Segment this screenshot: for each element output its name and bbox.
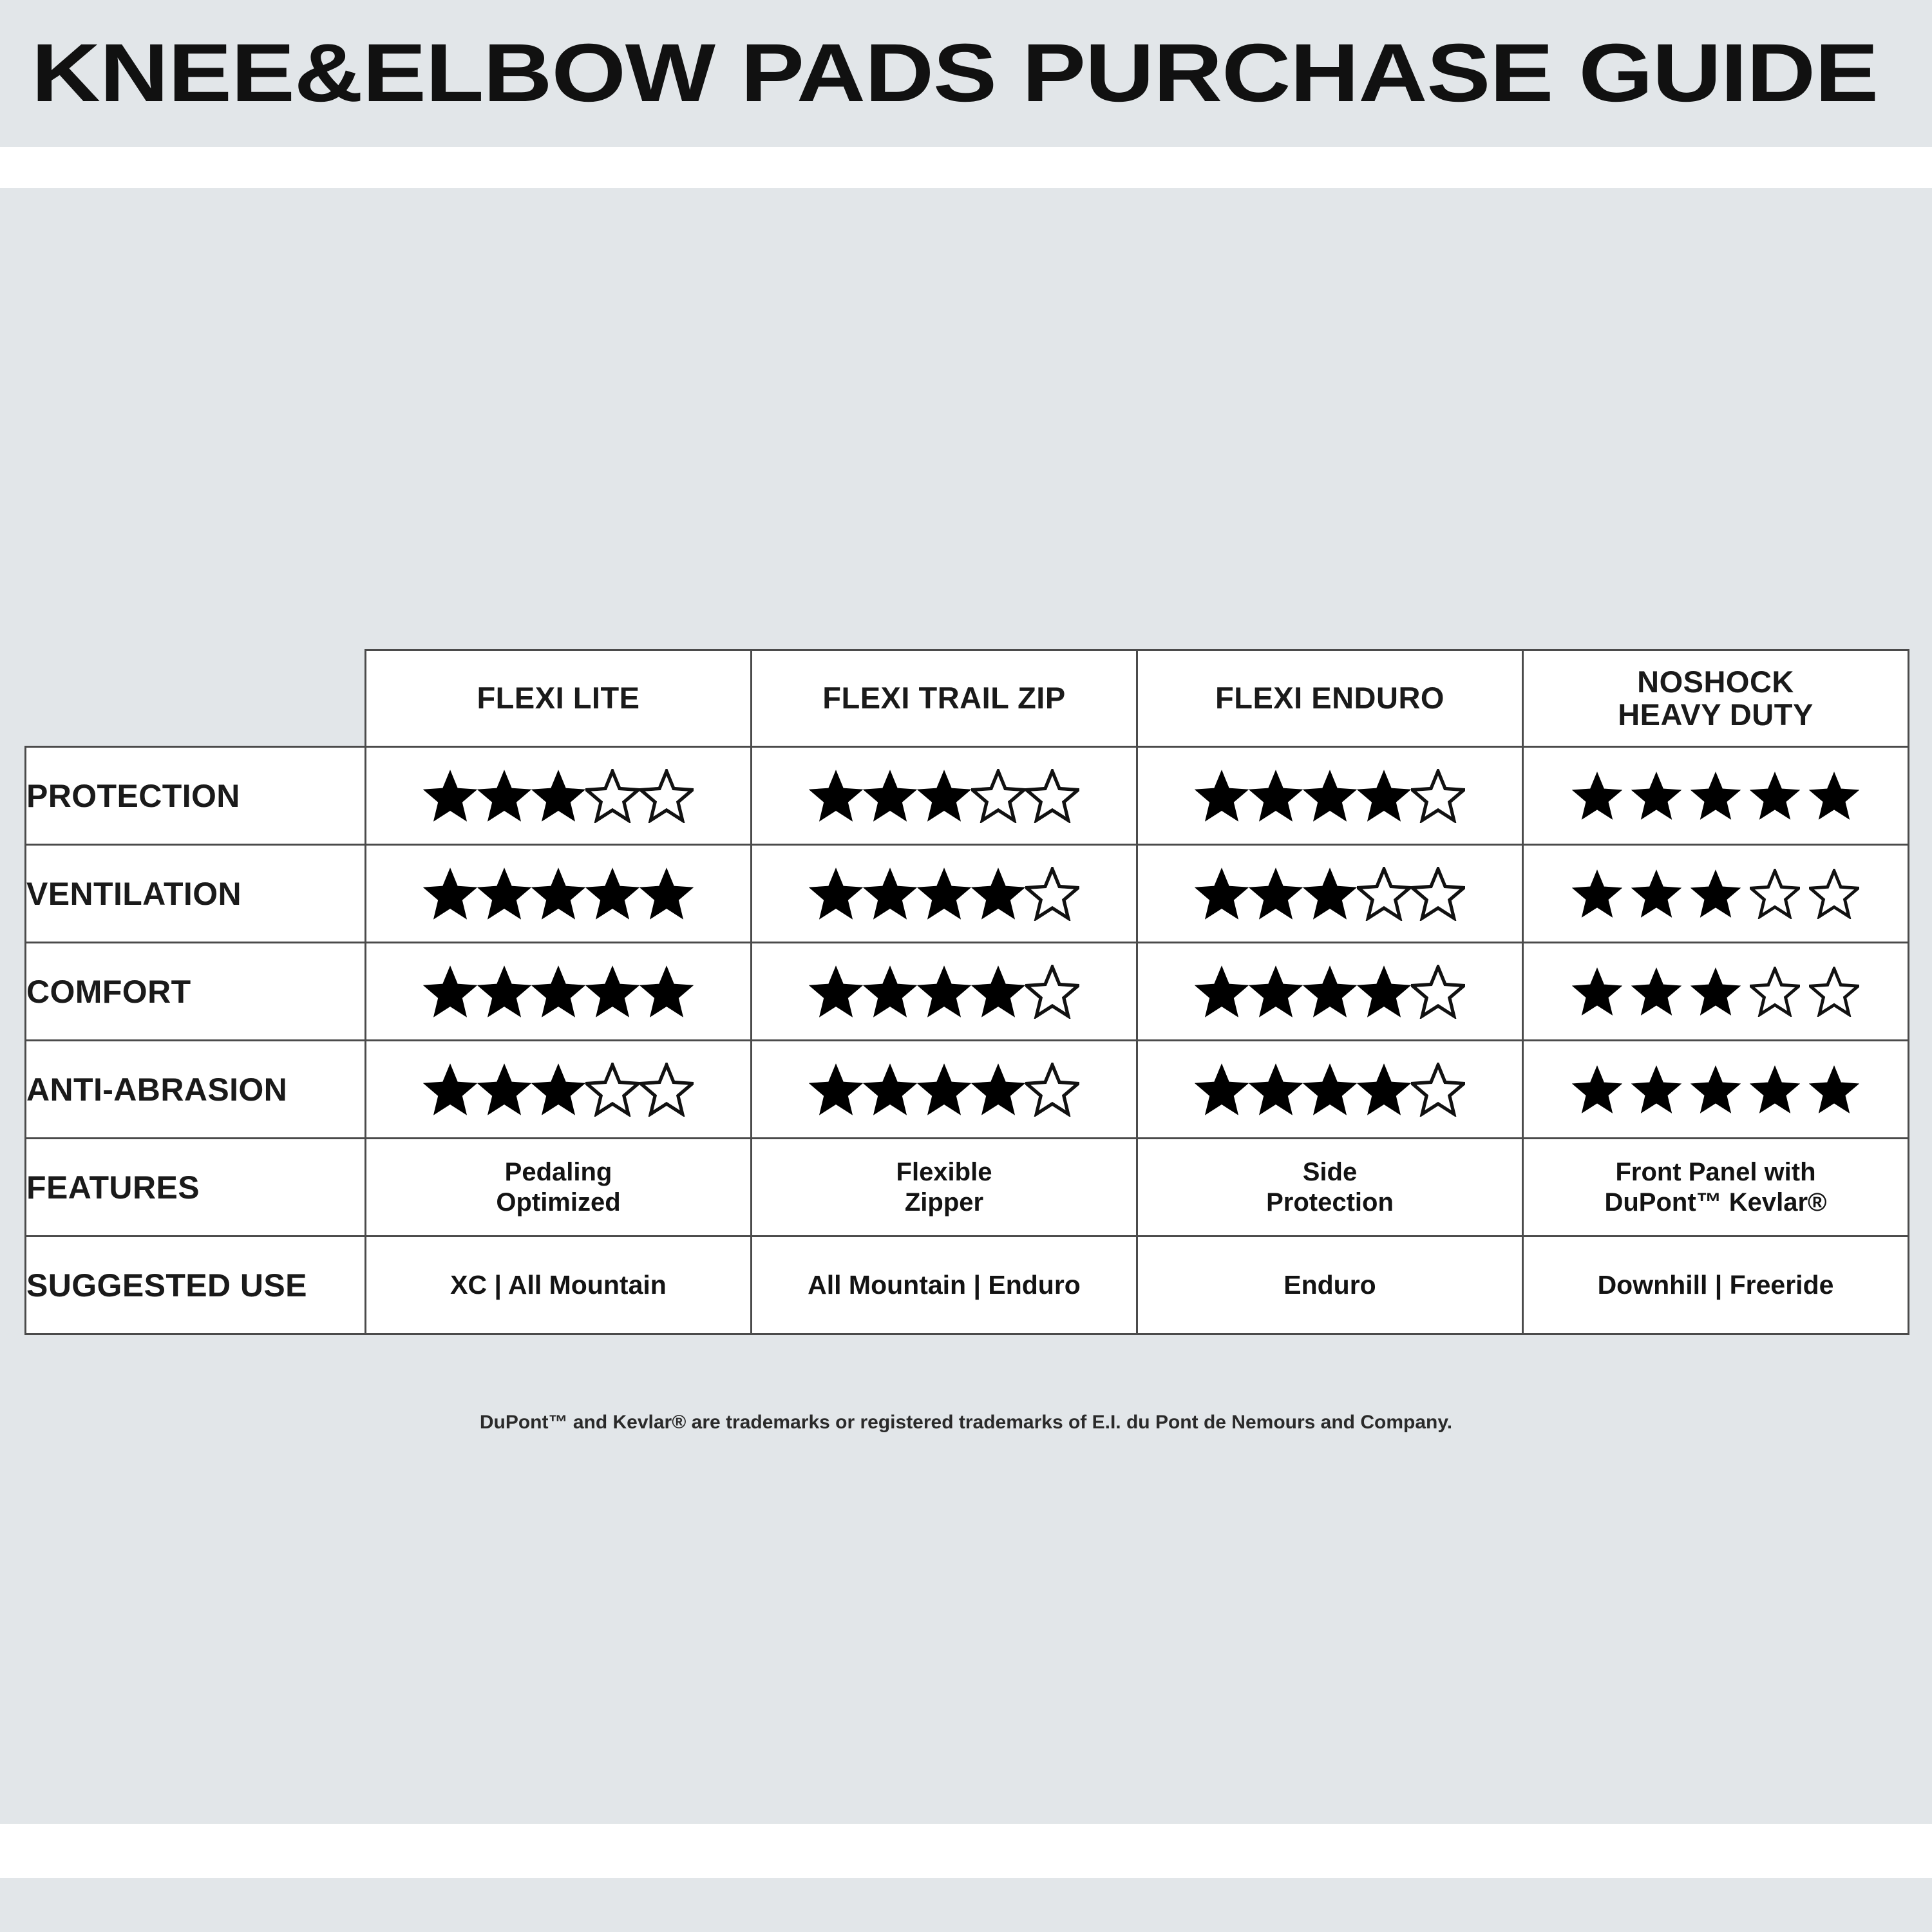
star-empty-icon bbox=[585, 769, 639, 823]
star-filled-icon bbox=[917, 965, 971, 1019]
cell-protection-flexi-lite bbox=[366, 747, 752, 845]
rating-stars bbox=[1138, 769, 1522, 823]
star-filled-icon bbox=[1572, 869, 1622, 919]
star-filled-icon bbox=[1357, 965, 1411, 1019]
star-filled-icon bbox=[1690, 967, 1741, 1017]
suggested-use-value: All Mountain | Enduro bbox=[752, 1271, 1136, 1300]
comparison-table-wrapper: FLEXI LITE FLEXI TRAIL ZIP FLEXI ENDURO … bbox=[24, 649, 1908, 1335]
star-filled-icon bbox=[971, 965, 1025, 1019]
suggested-use-value: Downhill | Freeride bbox=[1524, 1271, 1908, 1300]
row-label-ventilation: VENTILATION bbox=[26, 845, 366, 943]
star-filled-icon bbox=[585, 965, 639, 1019]
star-filled-icon bbox=[809, 769, 863, 823]
comparison-table: FLEXI LITE FLEXI TRAIL ZIP FLEXI ENDURO … bbox=[24, 649, 1909, 1335]
column-header-line: NOSHOCK bbox=[1524, 666, 1908, 699]
rating-stars bbox=[1524, 869, 1908, 919]
row-label-suggested-use: SUGGESTED USE bbox=[26, 1236, 366, 1334]
star-filled-icon bbox=[1809, 1065, 1859, 1115]
star-empty-icon bbox=[1025, 965, 1079, 1019]
cell-ventilation-noshock-hd bbox=[1523, 845, 1909, 943]
column-header-flexi-lite: FLEXI LITE bbox=[366, 650, 752, 747]
cell-features-flexi-lite: Pedaling Optimized bbox=[366, 1139, 752, 1236]
cell-suggested-use-flexi-enduro: Enduro bbox=[1137, 1236, 1523, 1334]
star-filled-icon bbox=[477, 1063, 531, 1117]
rating-stars bbox=[366, 867, 750, 921]
star-empty-icon bbox=[1411, 1063, 1465, 1117]
rating-stars bbox=[752, 965, 1136, 1019]
star-filled-icon bbox=[863, 1063, 917, 1117]
star-filled-icon bbox=[1303, 1063, 1357, 1117]
star-filled-icon bbox=[1572, 967, 1622, 1017]
column-header-flexi-trail-zip: FLEXI TRAIL ZIP bbox=[752, 650, 1137, 747]
star-filled-icon bbox=[863, 965, 917, 1019]
cell-anti-abrasion-noshock-hd bbox=[1523, 1041, 1909, 1139]
star-filled-icon bbox=[1690, 1065, 1741, 1115]
star-filled-icon bbox=[1195, 965, 1249, 1019]
table-header-row: FLEXI LITE FLEXI TRAIL ZIP FLEXI ENDURO … bbox=[26, 650, 1909, 747]
suggested-use-value: Enduro bbox=[1138, 1271, 1522, 1300]
star-filled-icon bbox=[423, 867, 477, 921]
star-filled-icon bbox=[1809, 771, 1859, 821]
guide-page: KNEE&ELBOW PADS PURCHASE GUIDE FLEXI LIT… bbox=[0, 0, 1932, 1932]
star-empty-icon bbox=[1025, 769, 1079, 823]
star-filled-icon bbox=[639, 965, 694, 1019]
star-empty-icon bbox=[639, 1063, 694, 1117]
rating-stars bbox=[1138, 1063, 1522, 1117]
cell-protection-flexi-trail bbox=[752, 747, 1137, 845]
star-empty-icon bbox=[1750, 967, 1800, 1017]
star-filled-icon bbox=[1195, 769, 1249, 823]
star-empty-icon bbox=[1750, 869, 1800, 919]
star-filled-icon bbox=[531, 867, 585, 921]
features-value: Flexible Zipper bbox=[752, 1157, 1136, 1217]
cell-ventilation-flexi-lite bbox=[366, 845, 752, 943]
cell-features-noshock-hd: Front Panel with DuPont™ Kevlar® bbox=[1523, 1139, 1909, 1236]
footer-divider-strip bbox=[0, 1824, 1932, 1878]
star-empty-icon bbox=[971, 769, 1025, 823]
page-title: KNEE&ELBOW PADS PURCHASE GUIDE bbox=[0, 32, 1878, 115]
rating-stars bbox=[1524, 771, 1908, 821]
cell-features-flexi-enduro: Side Protection bbox=[1137, 1139, 1523, 1236]
cell-protection-flexi-enduro bbox=[1137, 747, 1523, 845]
rating-stars bbox=[1524, 1065, 1908, 1115]
rating-stars bbox=[752, 769, 1136, 823]
corner-blank-cell bbox=[26, 650, 366, 747]
header-divider-strip bbox=[0, 147, 1932, 188]
cell-comfort-flexi-enduro bbox=[1137, 943, 1523, 1041]
rating-stars bbox=[1138, 965, 1522, 1019]
star-filled-icon bbox=[1572, 1065, 1622, 1115]
star-empty-icon bbox=[1411, 965, 1465, 1019]
row-label-features: FEATURES bbox=[26, 1139, 366, 1236]
star-filled-icon bbox=[917, 769, 971, 823]
rating-stars bbox=[1524, 967, 1908, 1017]
cell-suggested-use-flexi-lite: XC | All Mountain bbox=[366, 1236, 752, 1334]
star-empty-icon bbox=[639, 769, 694, 823]
star-filled-icon bbox=[1690, 869, 1741, 919]
star-empty-icon bbox=[1809, 967, 1859, 1017]
rating-stars bbox=[752, 1063, 1136, 1117]
page-header: KNEE&ELBOW PADS PURCHASE GUIDE bbox=[0, 0, 1932, 147]
star-filled-icon bbox=[477, 867, 531, 921]
table-row: VENTILATION bbox=[26, 845, 1909, 943]
star-empty-icon bbox=[1357, 867, 1411, 921]
column-header-noshock-heavy-duty: NOSHOCKHEAVY DUTY bbox=[1523, 650, 1909, 747]
cell-protection-noshock-hd bbox=[1523, 747, 1909, 845]
column-header-line: HEAVY DUTY bbox=[1524, 699, 1908, 732]
star-filled-icon bbox=[1303, 769, 1357, 823]
star-filled-icon bbox=[1303, 867, 1357, 921]
table-row: SUGGESTED USEXC | All MountainAll Mounta… bbox=[26, 1236, 1909, 1334]
features-value: Front Panel with DuPont™ Kevlar® bbox=[1524, 1157, 1908, 1217]
star-filled-icon bbox=[477, 965, 531, 1019]
row-label-anti-abrasion: ANTI-ABRASION bbox=[26, 1041, 366, 1139]
cell-ventilation-flexi-enduro bbox=[1137, 845, 1523, 943]
rating-stars bbox=[752, 867, 1136, 921]
rating-stars bbox=[366, 965, 750, 1019]
cell-comfort-noshock-hd bbox=[1523, 943, 1909, 1041]
table-row: ANTI-ABRASION bbox=[26, 1041, 1909, 1139]
star-filled-icon bbox=[423, 1063, 477, 1117]
star-filled-icon bbox=[1690, 771, 1741, 821]
table-body: PROTECTIONVENTILATIONCOMFORTANTI-ABRASIO… bbox=[26, 747, 1909, 1334]
cell-anti-abrasion-flexi-trail bbox=[752, 1041, 1137, 1139]
star-filled-icon bbox=[1249, 769, 1303, 823]
cell-comfort-flexi-trail bbox=[752, 943, 1137, 1041]
star-filled-icon bbox=[809, 1063, 863, 1117]
table-head: FLEXI LITE FLEXI TRAIL ZIP FLEXI ENDURO … bbox=[26, 650, 1909, 747]
star-empty-icon bbox=[1411, 769, 1465, 823]
star-filled-icon bbox=[585, 867, 639, 921]
star-filled-icon bbox=[809, 867, 863, 921]
features-value: Side Protection bbox=[1138, 1157, 1522, 1217]
cell-anti-abrasion-flexi-lite bbox=[366, 1041, 752, 1139]
star-filled-icon bbox=[477, 769, 531, 823]
star-filled-icon bbox=[1572, 771, 1622, 821]
features-value: Pedaling Optimized bbox=[366, 1157, 750, 1217]
star-filled-icon bbox=[1357, 1063, 1411, 1117]
table-row: PROTECTION bbox=[26, 747, 1909, 845]
star-filled-icon bbox=[1631, 869, 1681, 919]
star-empty-icon bbox=[585, 1063, 639, 1117]
star-filled-icon bbox=[1750, 771, 1800, 821]
star-empty-icon bbox=[1411, 867, 1465, 921]
star-filled-icon bbox=[639, 867, 694, 921]
star-filled-icon bbox=[1249, 1063, 1303, 1117]
column-header-line: FLEXI ENDURO bbox=[1138, 682, 1522, 715]
column-header-line: FLEXI LITE bbox=[366, 682, 750, 715]
star-filled-icon bbox=[423, 965, 477, 1019]
star-filled-icon bbox=[1303, 965, 1357, 1019]
star-filled-icon bbox=[1249, 965, 1303, 1019]
star-filled-icon bbox=[1750, 1065, 1800, 1115]
star-filled-icon bbox=[1631, 967, 1681, 1017]
star-empty-icon bbox=[1025, 1063, 1079, 1117]
table-row: FEATURESPedaling OptimizedFlexible Zippe… bbox=[26, 1139, 1909, 1236]
star-filled-icon bbox=[1631, 771, 1681, 821]
footer-band bbox=[0, 1878, 1932, 1932]
column-header-flexi-enduro: FLEXI ENDURO bbox=[1137, 650, 1523, 747]
row-label-comfort: COMFORT bbox=[26, 943, 366, 1041]
star-empty-icon bbox=[1809, 869, 1859, 919]
star-filled-icon bbox=[1631, 1065, 1681, 1115]
cell-comfort-flexi-lite bbox=[366, 943, 752, 1041]
table-row: COMFORT bbox=[26, 943, 1909, 1041]
cell-anti-abrasion-flexi-enduro bbox=[1137, 1041, 1523, 1139]
star-filled-icon bbox=[1357, 769, 1411, 823]
star-filled-icon bbox=[971, 1063, 1025, 1117]
star-filled-icon bbox=[809, 965, 863, 1019]
star-filled-icon bbox=[917, 1063, 971, 1117]
row-label-protection: PROTECTION bbox=[26, 747, 366, 845]
star-filled-icon bbox=[863, 769, 917, 823]
rating-stars bbox=[366, 769, 750, 823]
star-filled-icon bbox=[1249, 867, 1303, 921]
star-empty-icon bbox=[1025, 867, 1079, 921]
cell-suggested-use-noshock-hd: Downhill | Freeride bbox=[1523, 1236, 1909, 1334]
suggested-use-value: XC | All Mountain bbox=[366, 1271, 750, 1300]
rating-stars bbox=[1138, 867, 1522, 921]
star-filled-icon bbox=[531, 1063, 585, 1117]
star-filled-icon bbox=[917, 867, 971, 921]
column-header-line: FLEXI TRAIL ZIP bbox=[752, 682, 1136, 715]
cell-features-flexi-trail: Flexible Zipper bbox=[752, 1139, 1137, 1236]
star-filled-icon bbox=[531, 965, 585, 1019]
rating-stars bbox=[366, 1063, 750, 1117]
trademark-footnote: DuPont™ and Kevlar® are trademarks or re… bbox=[0, 1412, 1932, 1434]
star-filled-icon bbox=[1195, 867, 1249, 921]
star-filled-icon bbox=[531, 769, 585, 823]
cell-suggested-use-flexi-trail: All Mountain | Enduro bbox=[752, 1236, 1137, 1334]
star-filled-icon bbox=[423, 769, 477, 823]
star-filled-icon bbox=[863, 867, 917, 921]
cell-ventilation-flexi-trail bbox=[752, 845, 1137, 943]
star-filled-icon bbox=[971, 867, 1025, 921]
star-filled-icon bbox=[1195, 1063, 1249, 1117]
